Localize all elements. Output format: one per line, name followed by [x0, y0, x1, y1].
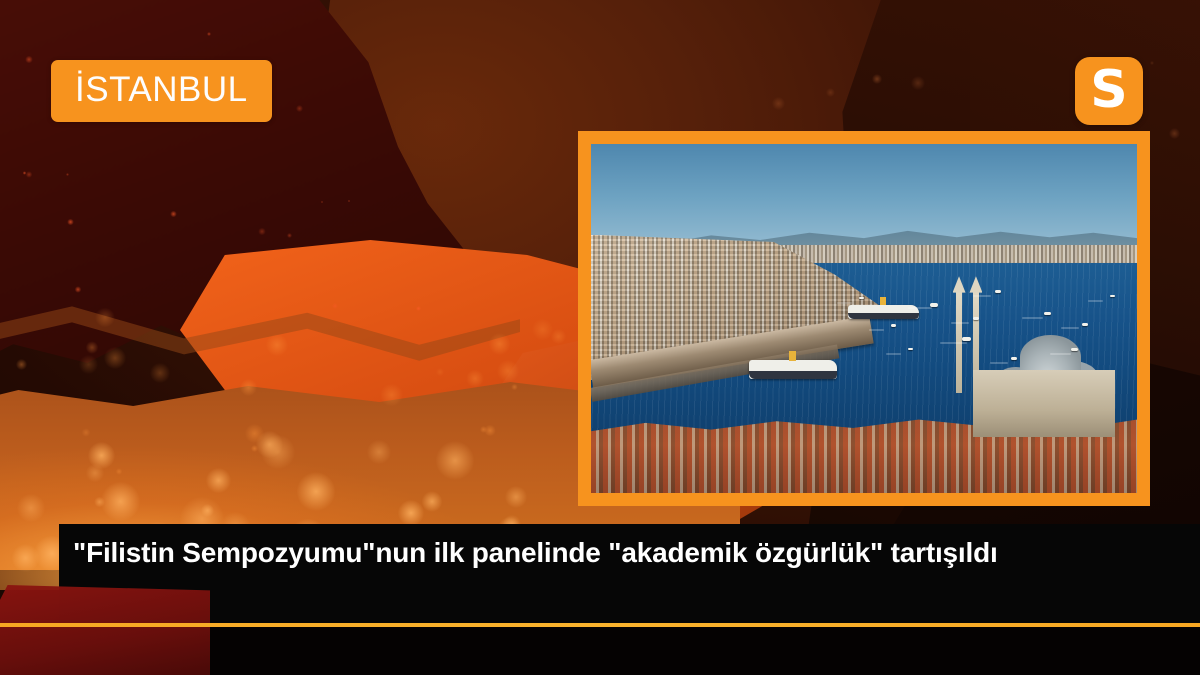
photo-new-mosque	[946, 291, 1115, 438]
brand-logo[interactable]: S	[1075, 57, 1143, 125]
photo-sky	[591, 144, 1137, 242]
photo-ferry-hull	[749, 371, 836, 379]
photo-mosque-body	[973, 370, 1115, 437]
city-photo	[591, 144, 1137, 493]
photo-ferry-funnel	[789, 351, 797, 362]
footer-shape-red	[0, 585, 210, 675]
photo-frame	[578, 131, 1150, 506]
brand-logo-letter: S	[1090, 64, 1127, 116]
headline-text: "Filistin Sempozyumu"nun ilk panelinde "…	[73, 534, 1180, 571]
photo-ferry-b	[749, 360, 836, 378]
city-badge-label: İSTANBUL	[75, 68, 248, 112]
photo-ferry-hull	[848, 313, 919, 319]
headline-panel: "Filistin Sempozyumu"nun ilk panelinde "…	[59, 524, 1200, 624]
news-card: İSTANBUL S	[0, 0, 1200, 675]
photo-ferry-funnel	[880, 297, 886, 306]
city-badge[interactable]: İSTANBUL	[51, 60, 272, 122]
accent-divider	[0, 623, 1200, 627]
